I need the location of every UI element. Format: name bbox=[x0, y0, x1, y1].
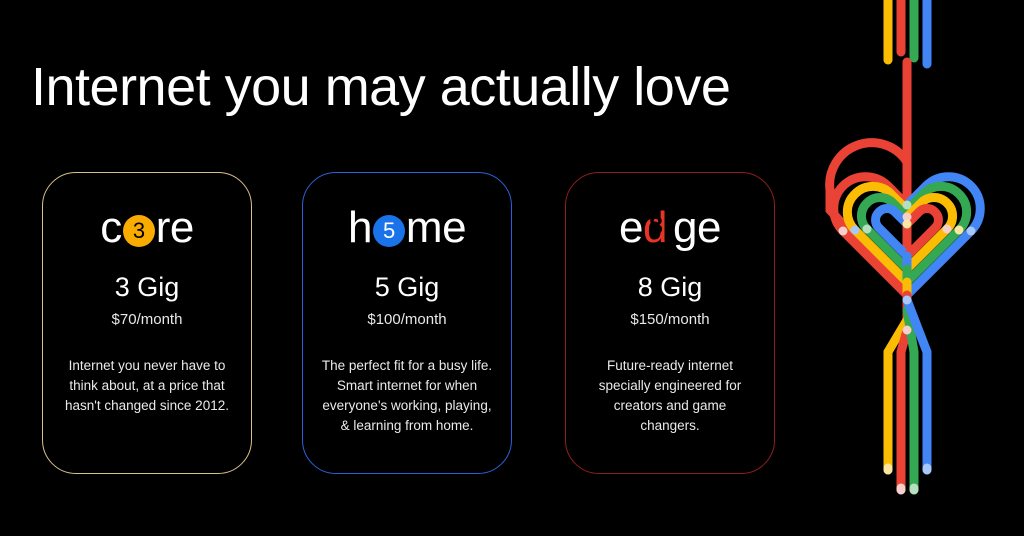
plan-price-home: $100/month bbox=[367, 311, 446, 329]
plan-speed-edge: 8 Gig bbox=[638, 272, 703, 302]
plan-logo-core-badge: 3 bbox=[123, 215, 155, 247]
plan-description-edge: Future-ready internet specially engineer… bbox=[584, 356, 756, 436]
plan-price-edge: $150/month bbox=[630, 311, 709, 329]
plan-card-edge-body: ed8ge 8 Gig $150/month Future-ready inte… bbox=[566, 173, 774, 473]
plan-logo-core-prefix: c bbox=[100, 206, 122, 250]
plan-price-core: $70/month bbox=[112, 311, 183, 329]
plan-card-home[interactable]: h5me 5 Gig $100/month The perfect fit fo… bbox=[302, 172, 512, 474]
plan-card-home-body: h5me 5 Gig $100/month The perfect fit fo… bbox=[303, 173, 511, 473]
plan-logo-core: c3re bbox=[100, 205, 194, 251]
plan-card-core[interactable]: c3re 3 Gig $70/month Internet you never … bbox=[42, 172, 252, 474]
plan-card-core-body: c3re 3 Gig $70/month Internet you never … bbox=[43, 173, 251, 473]
page-title: Internet you may actually love bbox=[31, 56, 730, 118]
plan-speed-home: 5 Gig bbox=[375, 272, 440, 302]
fiber-heart-icon bbox=[800, 0, 1024, 536]
plan-logo-home-suffix: me bbox=[406, 206, 466, 250]
plan-description-home: The perfect fit for a busy life. Smart i… bbox=[321, 356, 493, 436]
plan-logo-edge-prefix: e bbox=[619, 206, 643, 250]
promo-banner: Internet you may actually love c3re 3 Gi… bbox=[0, 0, 1024, 536]
plan-logo-edge-suffix: ge bbox=[673, 206, 721, 250]
plan-logo-home: h5me bbox=[348, 205, 466, 251]
plan-logo-home-prefix: h bbox=[348, 206, 372, 250]
plan-card-list: c3re 3 Gig $70/month Internet you never … bbox=[42, 172, 782, 476]
plan-description-core: Internet you never have to think about, … bbox=[61, 356, 233, 416]
plan-logo-edge-badge: d8 bbox=[643, 205, 673, 251]
plan-logo-core-suffix: re bbox=[156, 206, 194, 250]
plan-logo-edge: ed8ge bbox=[619, 205, 721, 251]
plan-logo-home-badge: 5 bbox=[373, 215, 405, 247]
plan-logo-edge-number: 8 bbox=[649, 214, 662, 239]
plan-speed-core: 3 Gig bbox=[115, 272, 180, 302]
plan-card-edge[interactable]: ed8ge 8 Gig $150/month Future-ready inte… bbox=[565, 172, 775, 474]
